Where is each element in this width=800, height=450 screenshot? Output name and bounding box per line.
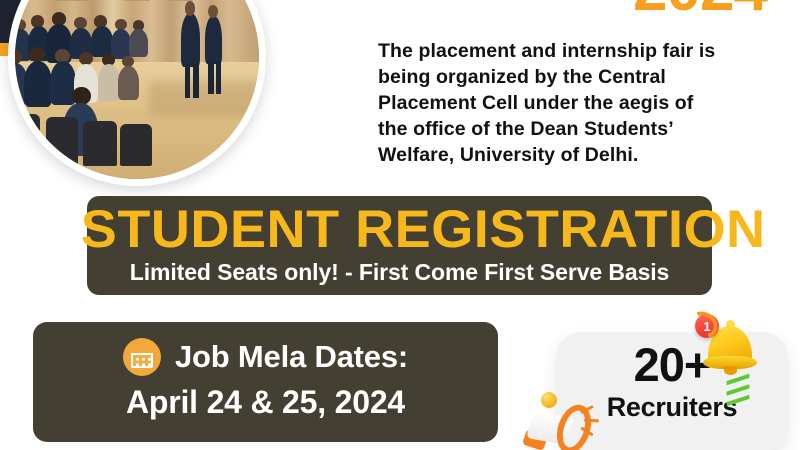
photo-speaker-leg: [193, 64, 199, 98]
photo-door: [125, 0, 149, 1]
hero-photo-circle: [8, 0, 266, 186]
dates-label: Job Mela Dates:: [175, 339, 408, 375]
recruiters-badge-tail: [716, 436, 760, 450]
dates-header-row: Job Mela Dates:: [33, 338, 498, 376]
calendar-icon: [123, 338, 161, 376]
megaphone-icon: [524, 402, 602, 450]
photo-door: [56, 0, 90, 1]
job-mela-dates-box: Job Mela Dates: April 24 & 25, 2024: [33, 322, 498, 442]
bell-clapper: [724, 366, 737, 375]
intro-line: The placement and internship fair is: [378, 38, 774, 64]
registration-subtitle: Limited Seats only! - First Come First S…: [87, 258, 712, 286]
confetti-coin-icon: [541, 392, 557, 408]
intro-line: being organized by the Central: [378, 64, 774, 90]
photo-speaker-leg: [216, 62, 221, 94]
photo-audience: [15, 8, 191, 179]
intro-line: Placement Cell under the aegis of: [378, 90, 774, 116]
megaphone-sound-line: [584, 419, 599, 423]
dates-value: April 24 & 25, 2024: [33, 384, 498, 421]
registration-title: STUDENT REGISTRATION: [81, 202, 719, 258]
intro-paragraph: The placement and internship fair is bei…: [378, 38, 774, 168]
photo-speaker: [205, 16, 222, 65]
student-registration-banner: STUDENT REGISTRATION Limited Seats only!…: [87, 196, 712, 295]
intro-line: the office of the Dean Students’: [378, 116, 774, 142]
photo-speaker-head: [208, 5, 218, 18]
poster-canvas: 2024 The placement and internship fair i…: [0, 0, 800, 450]
auditorium-audience-photo: [15, 0, 259, 179]
photo-speaker-leg: [208, 62, 213, 94]
calendar-glyph: [131, 347, 153, 368]
year-heading: 2024: [616, 0, 784, 22]
intro-line: Welfare, University of Delhi.: [378, 142, 774, 168]
